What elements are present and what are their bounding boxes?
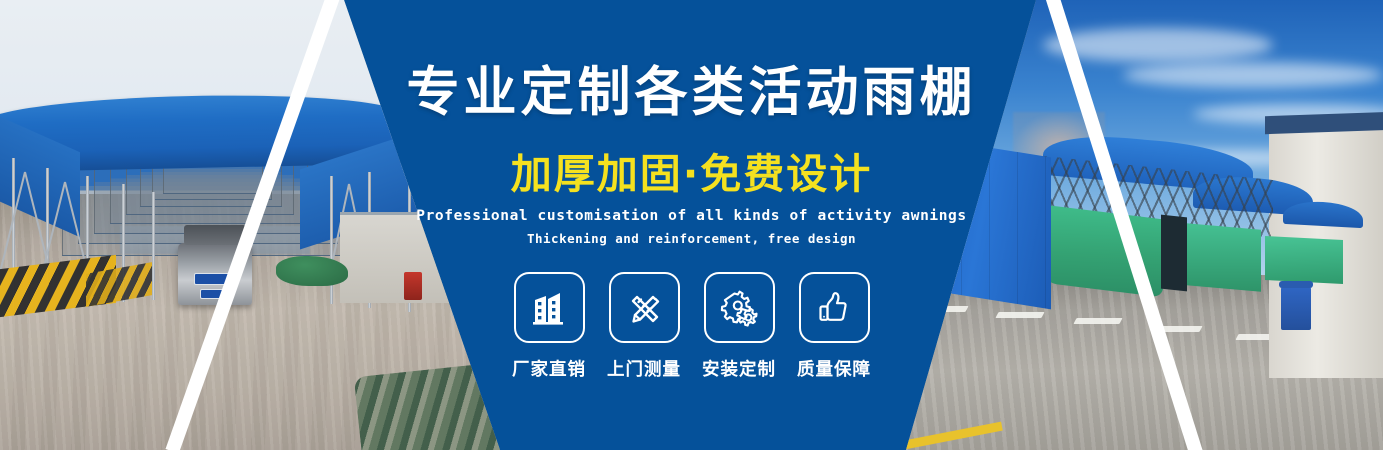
feature-label: 上门测量	[607, 356, 681, 381]
feature-list: 厂家直销 上门测量	[0, 272, 1383, 381]
feature-label: 厂家直销	[512, 356, 586, 381]
gears-icon	[704, 272, 775, 343]
promo-banner: 专业定制各类活动雨棚 加厚加固·免费设计 Professional custom…	[0, 0, 1383, 450]
feature-label: 安装定制	[702, 356, 776, 381]
english-tagline-primary: Professional customisation of all kinds …	[0, 208, 1383, 224]
feature-item-quality-guarantee[interactable]: 质量保障	[798, 272, 871, 381]
page-title: 专业定制各类活动雨棚	[0, 64, 1383, 122]
building-icon	[514, 272, 585, 343]
feature-item-install-custom[interactable]: 安装定制	[703, 272, 776, 381]
ruler-pencil-icon	[609, 272, 680, 343]
feature-label: 质量保障	[797, 356, 871, 381]
feature-item-onsite-measure[interactable]: 上门测量	[608, 272, 681, 381]
feature-item-factory-direct[interactable]: 厂家直销	[513, 272, 586, 381]
english-tagline-secondary: Thickening and reinforcement, free desig…	[0, 231, 1383, 246]
thumbs-up-icon	[799, 272, 870, 343]
subtitle: 加厚加固·免费设计	[0, 140, 1383, 200]
